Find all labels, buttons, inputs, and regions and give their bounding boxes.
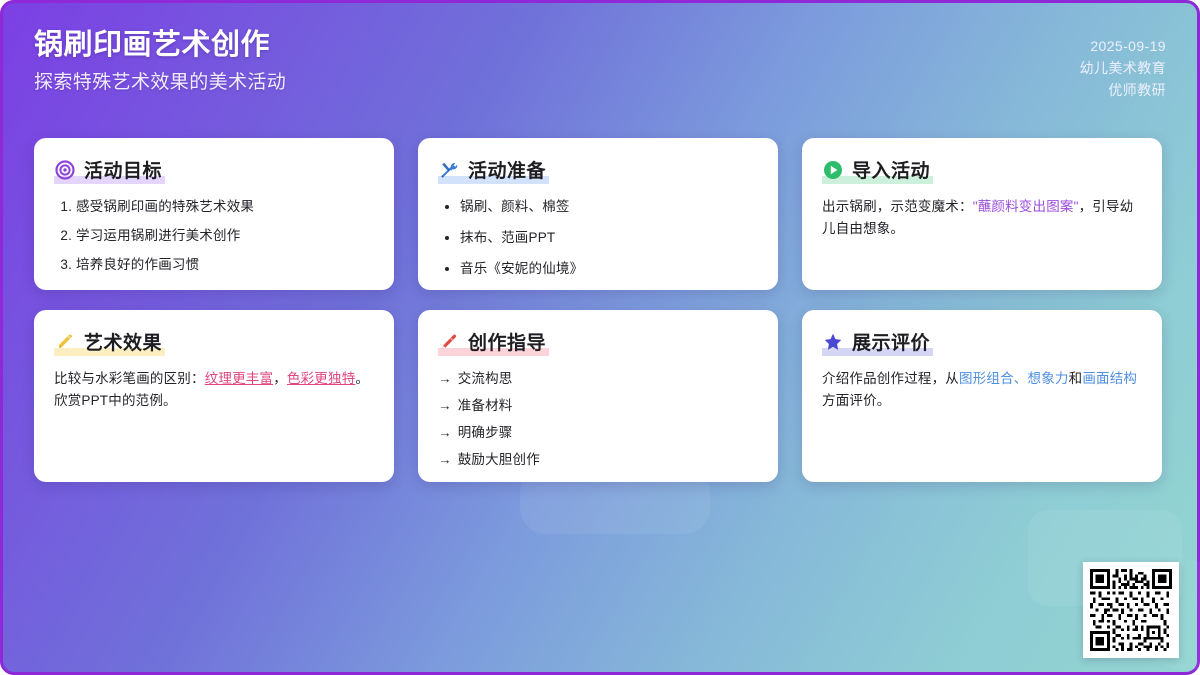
goal-list: 感受锅刷印画的特殊艺术效果 学习运用锅刷进行美术创作 培养良好的作画习惯 (54, 196, 374, 276)
card-header: 展示评价 (822, 328, 933, 356)
arrow-icon: → (438, 371, 452, 386)
slide-header: 锅刷印画艺术创作 探索特殊艺术效果的美术活动 2025-09-19 幼儿美术教育… (0, 0, 1200, 122)
text-before: 介绍作品创作过程，从 (822, 371, 959, 386)
card-title: 导入活动 (852, 156, 930, 183)
card-title: 展示评价 (852, 328, 930, 355)
list-item: →准备材料 (438, 395, 758, 417)
art-effect-paragraph: 比较与水彩笔画的区别：纹理更丰富，色彩更独特。欣赏PPT中的范例。 (54, 368, 374, 412)
list-item: 培养良好的作画习惯 (76, 254, 374, 276)
text-after: 方面评价。 (822, 393, 891, 408)
card-art-effect[interactable]: 艺术效果 比较与水彩笔画的区别：纹理更丰富，色彩更独特。欣赏PPT中的范例。 (34, 310, 394, 482)
arrow-icon: → (438, 425, 452, 440)
card-header: 创作指导 (438, 328, 549, 356)
list-item-label: 明确步骤 (458, 425, 513, 440)
card-grid: 活动目标 感受锅刷印画的特殊艺术效果 学习运用锅刷进行美术创作 培养良好的作画习… (34, 138, 1168, 482)
tools-icon (439, 160, 459, 180)
card-title: 创作指导 (468, 328, 546, 355)
header-category: 幼儿美术教育 (1080, 57, 1166, 79)
list-item: 抹布、范画PPT (460, 227, 758, 249)
list-item: 音乐《安妮的仙境》 (460, 258, 758, 280)
list-item-label: 准备材料 (458, 398, 513, 413)
card-creation-guidance[interactable]: 创作指导 →交流构思 →准备材料 →明确步骤 →鼓励大胆创作 (418, 310, 778, 482)
intro-paragraph: 出示锅刷，示范变魔术："蘸颜料变出图案"，引导幼儿自由想象。 (822, 196, 1142, 240)
guidance-steps-list: →交流构思 →准备材料 →明确步骤 →鼓励大胆创作 (438, 368, 758, 471)
card-intro-activity[interactable]: 导入活动 出示锅刷，示范变魔术："蘸颜料变出图案"，引导幼儿自由想象。 (802, 138, 1162, 290)
header-title-block: 锅刷印画艺术创作 探索特殊艺术效果的美术活动 (34, 26, 286, 98)
list-item: 学习运用锅刷进行美术创作 (76, 225, 374, 247)
list-item: 感受锅刷印画的特殊艺术效果 (76, 196, 374, 218)
paintbrush-icon (439, 332, 459, 352)
play-circle-icon (823, 160, 843, 180)
card-title: 活动目标 (84, 156, 162, 183)
text-middle: ， (273, 371, 287, 386)
card-body: →交流构思 →准备材料 →明确步骤 →鼓励大胆创作 (438, 368, 758, 471)
list-item-label: 鼓励大胆创作 (458, 452, 540, 467)
preparation-list: 锅刷、颜料、棉签 抹布、范画PPT 音乐《安妮的仙境》 (438, 196, 758, 280)
text-before: 出示锅刷，示范变魔术： (822, 199, 973, 214)
target-icon (55, 160, 75, 180)
card-header: 艺术效果 (54, 328, 165, 356)
page-subtitle: 探索特殊艺术效果的美术活动 (34, 68, 286, 98)
pencil-icon (55, 332, 75, 352)
page-title: 锅刷印画艺术创作 (34, 26, 286, 64)
card-display-evaluation[interactable]: 展示评价 介绍作品创作过程，从图形组合、想象力和画面结构方面评价。 (802, 310, 1162, 482)
list-item: →鼓励大胆创作 (438, 449, 758, 471)
arrow-icon: → (438, 452, 452, 467)
list-item: →明确步骤 (438, 422, 758, 444)
card-title: 活动准备 (468, 156, 546, 183)
card-header: 活动目标 (54, 156, 165, 184)
keyword-texture: 纹理更丰富 (205, 371, 274, 386)
star-icon (823, 332, 843, 352)
keyword-shape-imagination: 图形组合、想象力 (959, 371, 1069, 386)
card-body: 出示锅刷，示范变魔术："蘸颜料变出图案"，引导幼儿自由想象。 (822, 196, 1142, 240)
keyword-quote: "蘸颜料变出图案" (973, 199, 1079, 214)
text-middle: 和 (1069, 371, 1083, 386)
card-body: 介绍作品创作过程，从图形组合、想象力和画面结构方面评价。 (822, 368, 1142, 412)
list-item: →交流构思 (438, 368, 758, 390)
header-meta-block: 2025-09-19 幼儿美术教育 优师教研 (1080, 26, 1166, 101)
evaluation-paragraph: 介绍作品创作过程，从图形组合、想象力和画面结构方面评价。 (822, 368, 1142, 412)
header-source: 优师教研 (1108, 79, 1166, 101)
keyword-color: 色彩更独特 (287, 371, 356, 386)
slide-root: 锅刷印画艺术创作 探索特殊艺术效果的美术活动 2025-09-19 幼儿美术教育… (0, 0, 1200, 675)
card-header: 导入活动 (822, 156, 933, 184)
card-title: 艺术效果 (84, 328, 162, 355)
card-body: 锅刷、颜料、棉签 抹布、范画PPT 音乐《安妮的仙境》 (438, 196, 758, 280)
text-before: 比较与水彩笔画的区别： (54, 371, 205, 386)
list-item: 锅刷、颜料、棉签 (460, 196, 758, 218)
card-activity-preparation[interactable]: 活动准备 锅刷、颜料、棉签 抹布、范画PPT 音乐《安妮的仙境》 (418, 138, 778, 290)
keyword-composition: 画面结构 (1082, 371, 1137, 386)
card-header: 活动准备 (438, 156, 549, 184)
card-body: 感受锅刷印画的特殊艺术效果 学习运用锅刷进行美术创作 培养良好的作画习惯 (54, 196, 374, 276)
card-activity-goals[interactable]: 活动目标 感受锅刷印画的特殊艺术效果 学习运用锅刷进行美术创作 培养良好的作画习… (34, 138, 394, 290)
qr-code-image (1090, 569, 1172, 651)
header-date: 2025-09-19 (1090, 35, 1166, 57)
qr-code[interactable] (1083, 562, 1179, 658)
list-item-label: 交流构思 (458, 371, 513, 386)
arrow-icon: → (438, 398, 452, 413)
card-body: 比较与水彩笔画的区别：纹理更丰富，色彩更独特。欣赏PPT中的范例。 (54, 368, 374, 412)
